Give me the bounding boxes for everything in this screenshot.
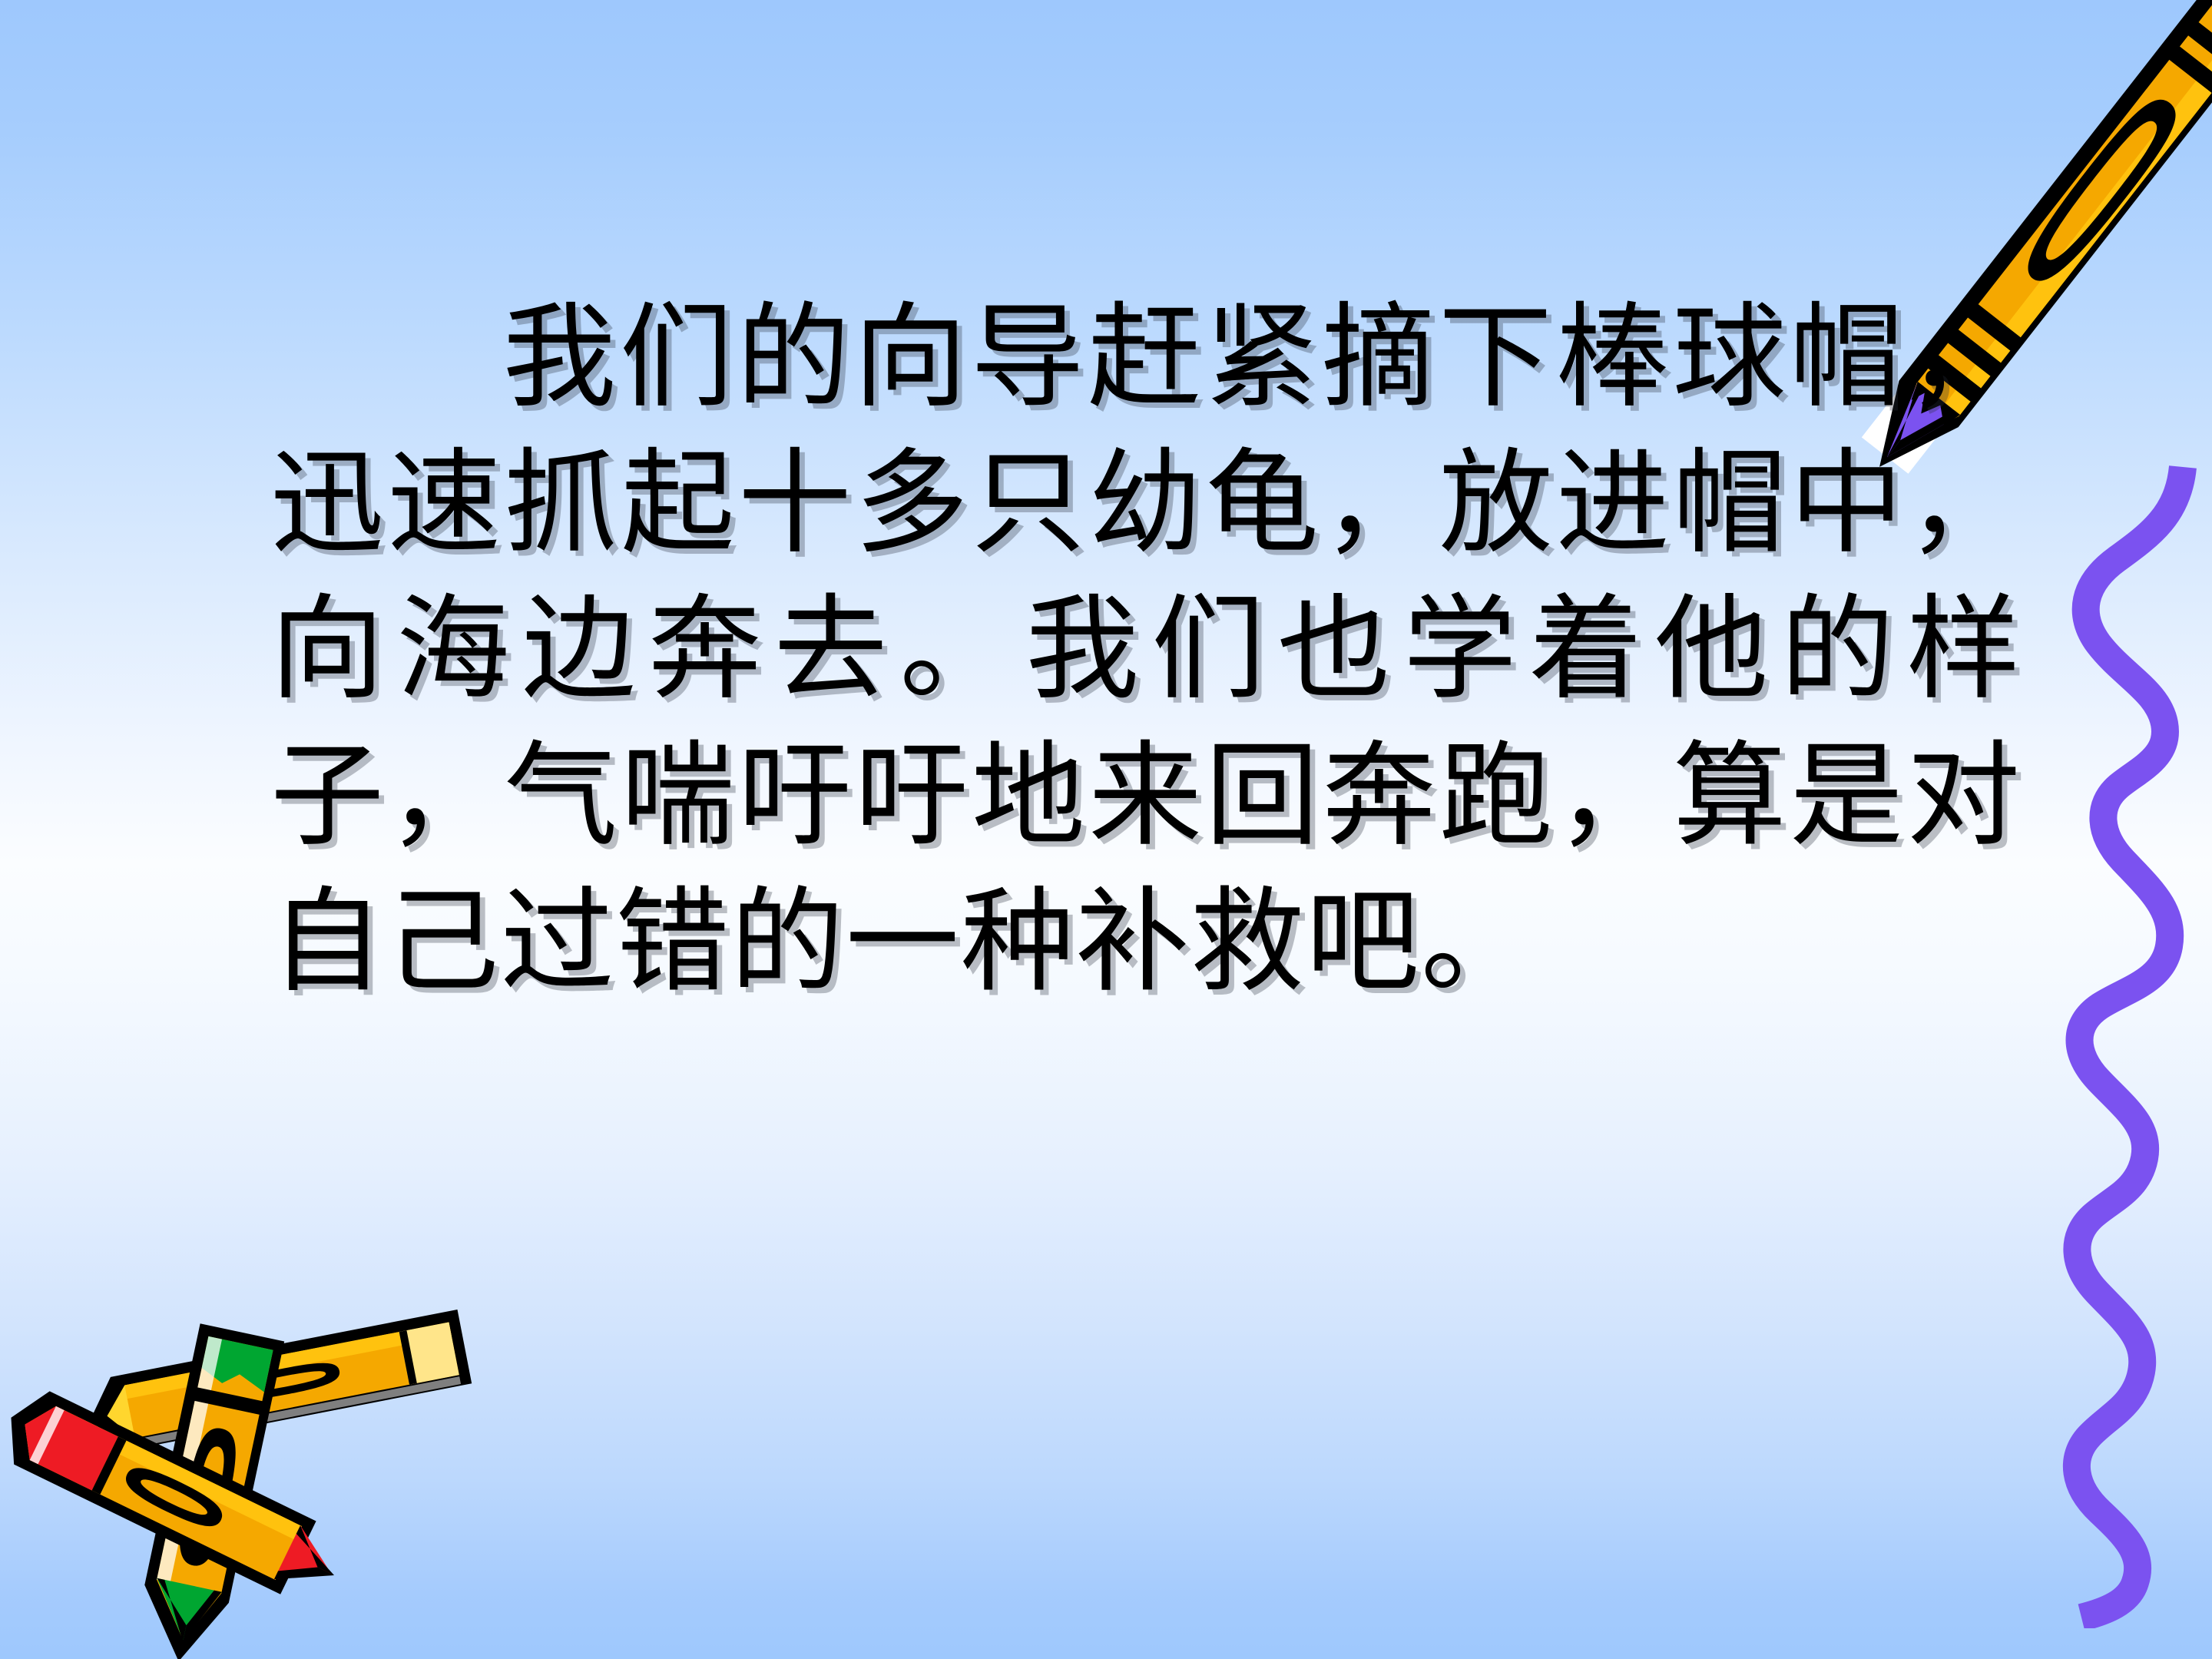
purple-squiggle-icon <box>2043 461 2212 1628</box>
crossed-crayons-icon <box>0 1298 492 1659</box>
presentation-slide: 我们的向导赶紧摘下棒球帽，迅速抓起十多只幼龟，放进帽中，向海边奔去。我们也学着他… <box>0 0 2212 1659</box>
slide-body-text: 我们的向导赶紧摘下棒球帽，迅速抓起十多只幼龟，放进帽中，向海边奔去。我们也学着他… <box>270 286 2022 1016</box>
